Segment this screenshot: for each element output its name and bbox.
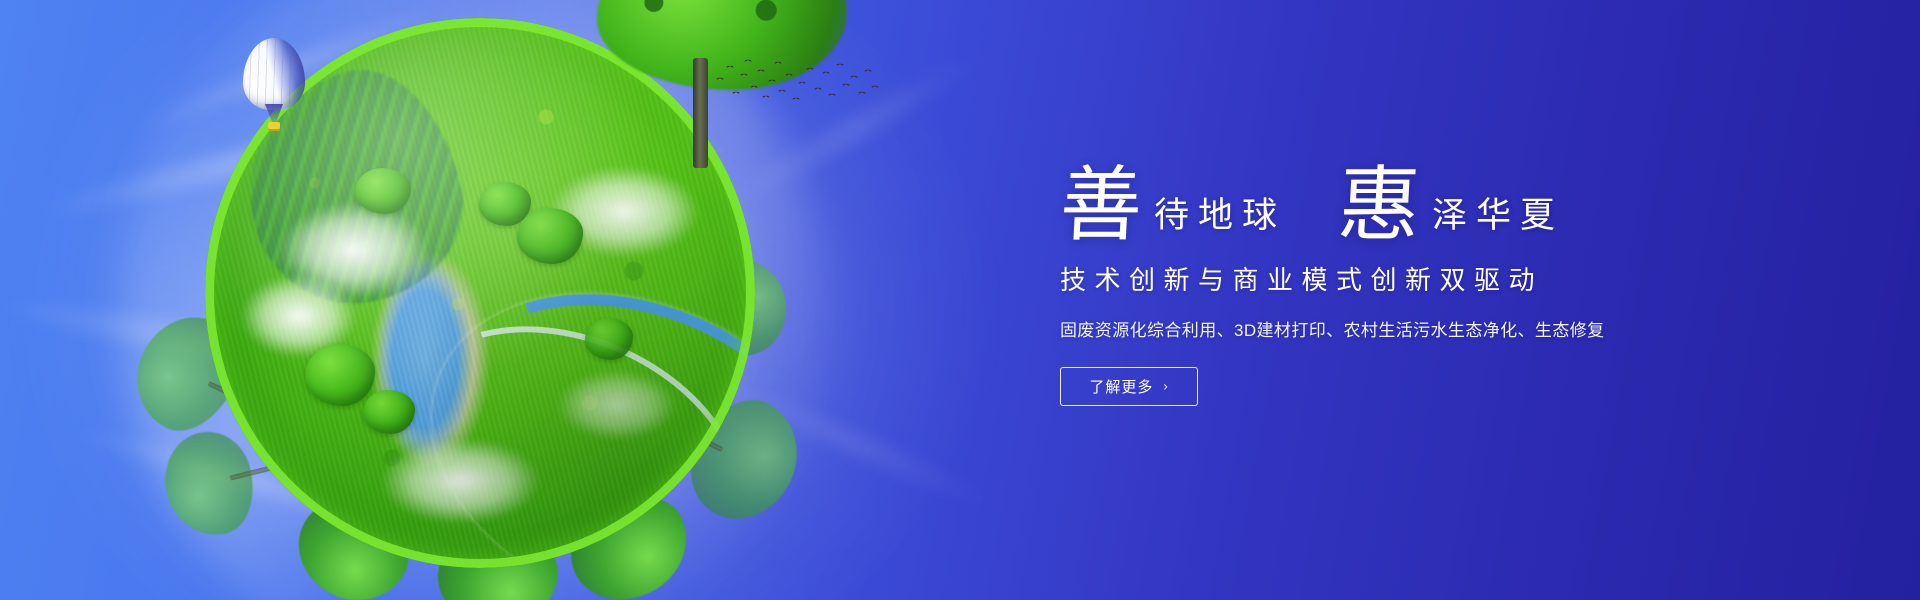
balloon-basket <box>268 122 280 131</box>
learn-more-label: 了解更多 <box>1089 376 1153 397</box>
bird-icon <box>734 92 739 95</box>
bird-icon <box>866 70 871 73</box>
bird-icon <box>860 92 865 95</box>
balloon-gores <box>243 38 305 110</box>
balloon-skirt <box>265 104 283 122</box>
bird-icon <box>787 74 792 77</box>
headline-phrase-1: 善 待地球 <box>1060 168 1286 244</box>
pole-tree-trunk <box>693 58 708 168</box>
headline-rest-1: 待地球 <box>1154 187 1286 238</box>
bird-icon <box>746 60 751 63</box>
bird-icon <box>824 72 829 75</box>
headline-lead-char-1: 善 <box>1058 168 1144 243</box>
bird-icon <box>728 66 733 69</box>
bird-icon <box>759 70 764 73</box>
bird-icon <box>764 96 769 99</box>
bird-icon <box>873 86 878 89</box>
learn-more-button[interactable]: 了解更多 › <box>1060 367 1198 406</box>
hero-banner: 善 待地球 惠 泽华夏 技术创新与商业模式创新双驱动 固废资源化综合利用、3D建… <box>0 0 1920 600</box>
headline: 善 待地球 惠 泽华夏 <box>1060 140 1780 244</box>
headline-rest-2: 泽华夏 <box>1432 187 1564 238</box>
bird-icon <box>816 88 821 91</box>
hero-copy: 善 待地球 惠 泽华夏 技术创新与商业模式创新双驱动 固废资源化综合利用、3D建… <box>1060 140 1780 406</box>
chevron-right-icon: › <box>1163 380 1168 393</box>
bird-icon <box>780 90 785 93</box>
bird-icon <box>852 76 857 79</box>
bird-icon <box>770 80 775 83</box>
bird-icon <box>808 68 813 71</box>
bird-icon <box>742 74 747 77</box>
bird-icon <box>752 86 757 89</box>
bird-icon <box>838 64 843 67</box>
hero-description: 固废资源化综合利用、3D建材打印、农村生活污水生态净化、生态修复 <box>1060 316 1780 341</box>
bird-icon <box>718 78 723 81</box>
hero-subtitle: 技术创新与商业模式创新双驱动 <box>1060 260 1780 297</box>
bird-icon <box>844 84 849 87</box>
bird-icon <box>830 94 835 97</box>
bird-icon <box>794 98 799 101</box>
hot-air-balloon-icon <box>243 38 305 134</box>
bird-icon <box>776 62 781 65</box>
headline-lead-char-2: 惠 <box>1336 168 1422 243</box>
bird-flock <box>712 48 880 114</box>
headline-phrase-2: 惠 泽华夏 <box>1338 168 1564 244</box>
bird-icon <box>800 82 805 85</box>
